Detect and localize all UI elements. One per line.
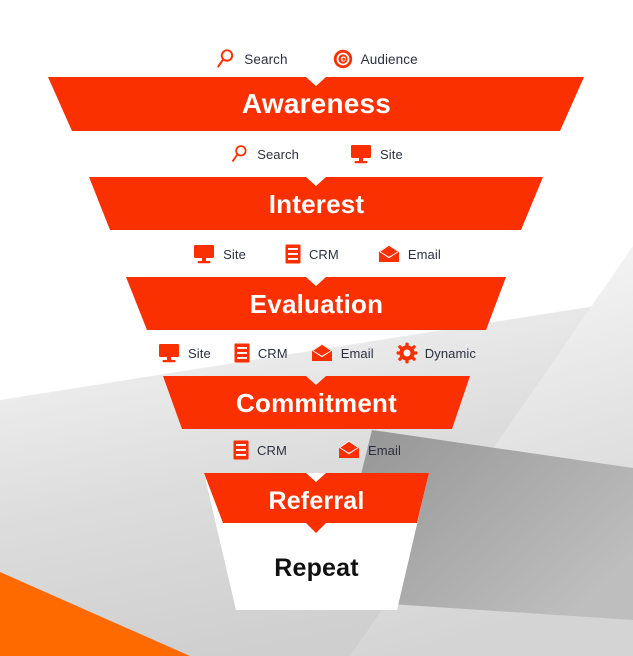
funnel-diagram: Search Audience Awareness bbox=[0, 0, 633, 656]
email-icon bbox=[377, 243, 401, 265]
channel-site[interactable]: Site bbox=[349, 143, 403, 165]
channel-email[interactable]: Email bbox=[310, 342, 374, 364]
stage-title-interest: Interest bbox=[0, 189, 633, 220]
channel-site[interactable]: Site bbox=[157, 342, 211, 364]
crm-icon bbox=[232, 439, 250, 461]
channel-crm[interactable]: CRM bbox=[284, 243, 339, 265]
search-icon bbox=[230, 144, 250, 164]
channel-label: Search bbox=[244, 52, 287, 67]
channel-row-evaluation: Site CRM Email bbox=[0, 240, 633, 268]
channel-label: CRM bbox=[257, 443, 287, 458]
stage-title-referral: Referral bbox=[0, 487, 633, 516]
channel-label: Search bbox=[257, 147, 299, 162]
channel-email[interactable]: Email bbox=[377, 243, 441, 265]
stage-title-awareness: Awareness bbox=[0, 88, 633, 120]
channel-label: Email bbox=[408, 247, 441, 262]
channel-row-referral: CRM Email bbox=[0, 436, 633, 464]
channel-search[interactable]: Search bbox=[230, 144, 299, 164]
site-icon bbox=[349, 143, 373, 165]
crm-icon bbox=[233, 342, 251, 364]
channel-site[interactable]: Site bbox=[192, 243, 246, 265]
email-icon bbox=[337, 439, 361, 461]
channel-label: Site bbox=[380, 147, 403, 162]
crm-icon bbox=[284, 243, 302, 265]
channel-label: Email bbox=[368, 443, 401, 458]
email-icon bbox=[310, 342, 334, 364]
channel-label: Site bbox=[188, 346, 211, 361]
audience-icon bbox=[332, 48, 354, 70]
channel-email[interactable]: Email bbox=[337, 439, 401, 461]
channel-crm[interactable]: CRM bbox=[232, 439, 287, 461]
channel-label: Email bbox=[341, 346, 374, 361]
channel-label: CRM bbox=[258, 346, 288, 361]
channel-audience[interactable]: Audience bbox=[332, 48, 418, 70]
channel-row-awareness: Search Audience bbox=[0, 45, 633, 73]
channel-label: Site bbox=[223, 247, 246, 262]
channel-crm[interactable]: CRM bbox=[233, 342, 288, 364]
stage-title-evaluation: Evaluation bbox=[0, 289, 633, 320]
site-icon bbox=[157, 342, 181, 364]
channel-label: Dynamic bbox=[425, 346, 476, 361]
site-icon bbox=[192, 243, 216, 265]
channel-dynamic[interactable]: Dynamic bbox=[396, 342, 476, 364]
stage-title-repeat: Repeat bbox=[0, 554, 633, 583]
stage-title-commitment: Commitment bbox=[0, 388, 633, 419]
dynamic-icon bbox=[396, 342, 418, 364]
channel-row-interest: Search Site bbox=[0, 140, 633, 168]
channel-label: CRM bbox=[309, 247, 339, 262]
channel-label: Audience bbox=[361, 52, 418, 67]
channel-search[interactable]: Search bbox=[215, 48, 287, 70]
channel-row-commitment: Site CRM Email bbox=[0, 339, 633, 367]
search-icon bbox=[215, 48, 237, 70]
